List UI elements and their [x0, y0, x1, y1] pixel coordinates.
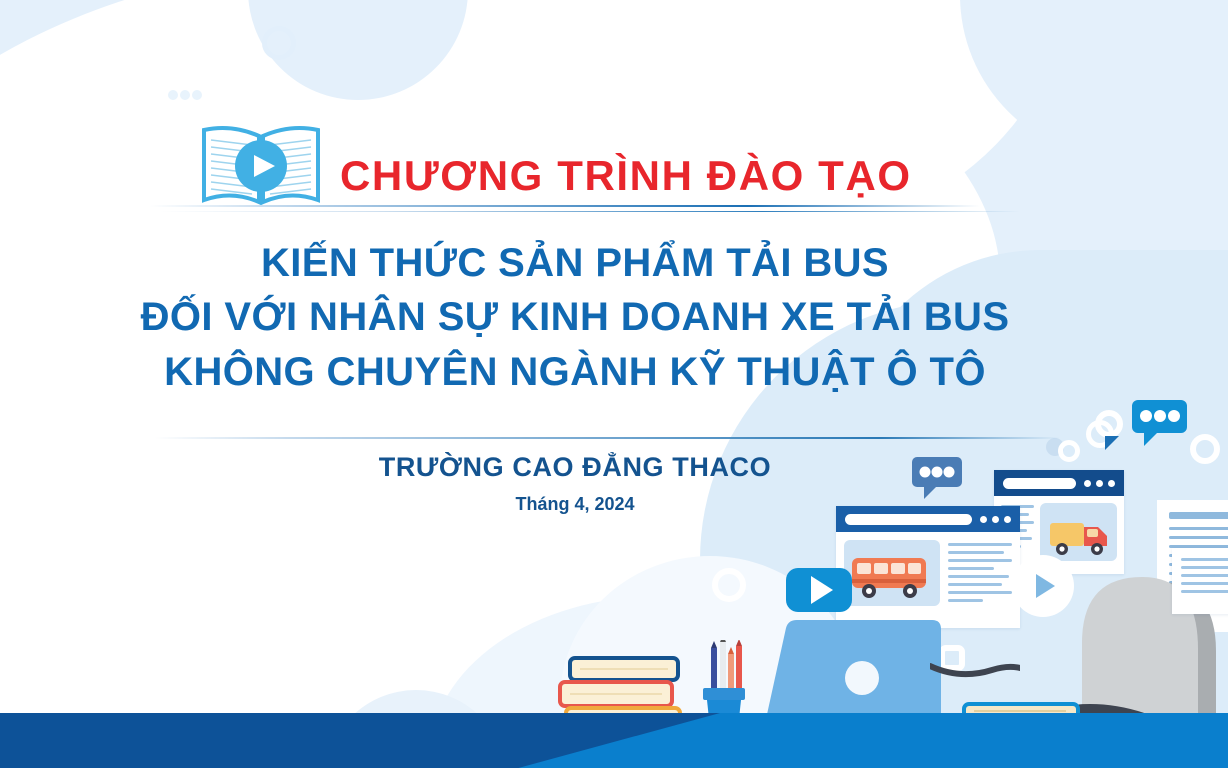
chat-bubble-muted-icon	[910, 455, 968, 506]
browser-card-faint	[1172, 548, 1228, 614]
browser-url-bar[interactable]	[1003, 478, 1076, 489]
headline-line-3: KHÔNG CHUYÊN NGÀNH KỸ THUẬT Ô TÔ	[0, 345, 1150, 399]
divider-bottom	[155, 437, 1060, 439]
truck-thumbnail	[1040, 503, 1117, 561]
browser-window-dots[interactable]	[980, 516, 1011, 523]
browser-window-dots[interactable]	[1084, 480, 1115, 487]
chat-bubble-blue-icon	[1130, 398, 1192, 453]
play-button-icon[interactable]	[786, 568, 852, 612]
bus-thumbnail	[844, 540, 940, 606]
headline-line-2: ĐỐI VỚI NHÂN SỰ KINH DOANH XE TẢI BUS	[0, 290, 1150, 344]
browser-url-bar[interactable]	[845, 514, 972, 525]
page-title: KIẾN THỨC SẢN PHẨM TẢI BUS ĐỐI VỚI NHÂN …	[0, 236, 1150, 399]
ring-decor-right	[1190, 434, 1220, 464]
eyebrow-title: CHƯƠNG TRÌNH ĐÀO TẠO	[340, 152, 960, 200]
divider-top-secondary	[160, 211, 1020, 212]
browser-card-bus	[836, 506, 1020, 628]
ring-decor-top-left	[262, 26, 296, 60]
triangle-decor	[1105, 436, 1119, 450]
headline-line-1: KIẾN THỨC SẢN PHẨM TẢI BUS	[0, 236, 1150, 290]
browser-titlebar	[994, 470, 1124, 496]
organization-name: TRƯỜNG CAO ĐẲNG THACO	[0, 452, 1150, 483]
browser-card-text	[1172, 548, 1228, 603]
document-header-line	[1169, 512, 1228, 519]
browser-titlebar	[836, 506, 1020, 532]
browser-card-text	[948, 540, 1012, 606]
divider-top-primary	[150, 205, 980, 207]
title-slide: CHƯƠNG TRÌNH ĐÀO TẠO KIẾN THỨC SẢN PHẨM …	[0, 0, 1228, 768]
ring-decor-desk	[712, 568, 746, 602]
book-play-icon	[200, 122, 322, 214]
cable-decor	[930, 660, 1020, 680]
